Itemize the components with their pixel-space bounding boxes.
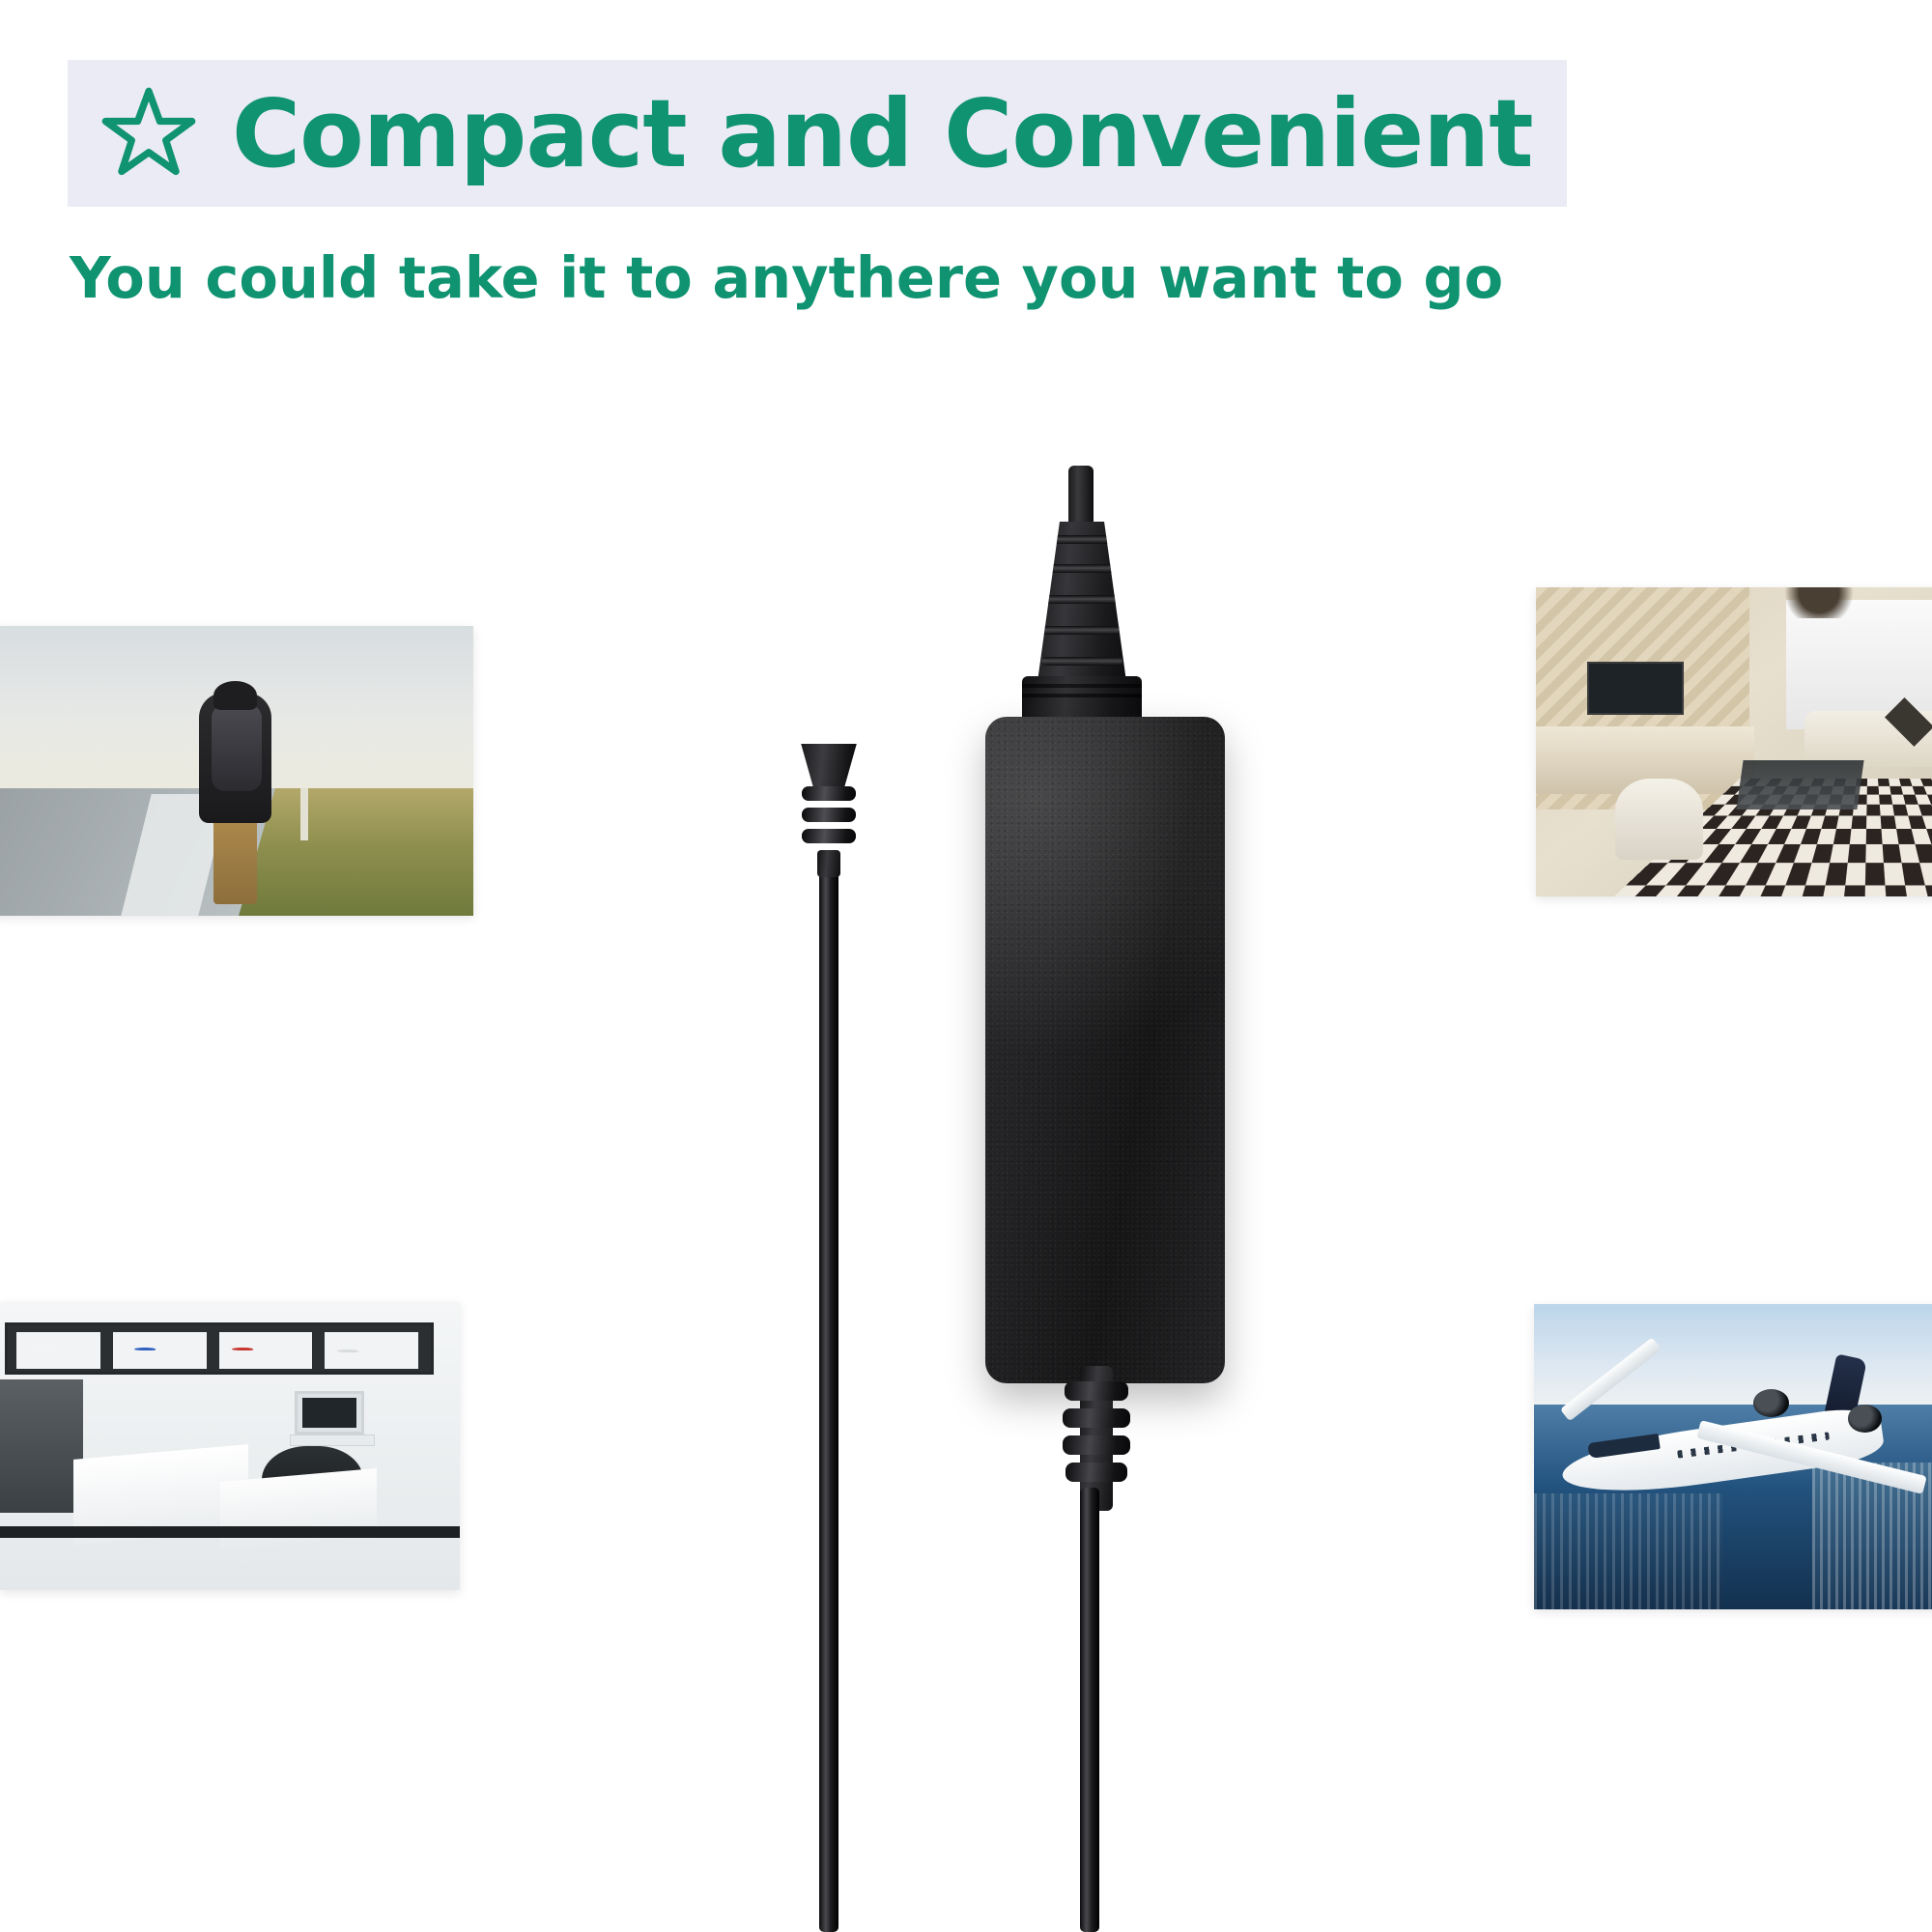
star-outline-icon (99, 83, 199, 184)
dc-barrel-tip (786, 744, 871, 869)
product-marketing-image: Compact and Convenient You could take it… (0, 0, 1932, 1932)
luxury-living-room-photo (1536, 587, 1932, 896)
adapter-brick (985, 717, 1225, 1383)
dc-output-cable (819, 850, 838, 1932)
ac-output-cable-run (1080, 1488, 1099, 1932)
modern-office-photo (0, 1302, 460, 1590)
header-banner: Compact and Convenient (68, 60, 1567, 207)
ac-strain-relief (1036, 522, 1128, 696)
subtitle-text: You could take it to anythere you want t… (70, 247, 1503, 310)
page-title: Compact and Convenient (232, 87, 1533, 181)
business-jet-photo (1534, 1304, 1932, 1609)
backpacker-on-road-photo (0, 626, 473, 916)
